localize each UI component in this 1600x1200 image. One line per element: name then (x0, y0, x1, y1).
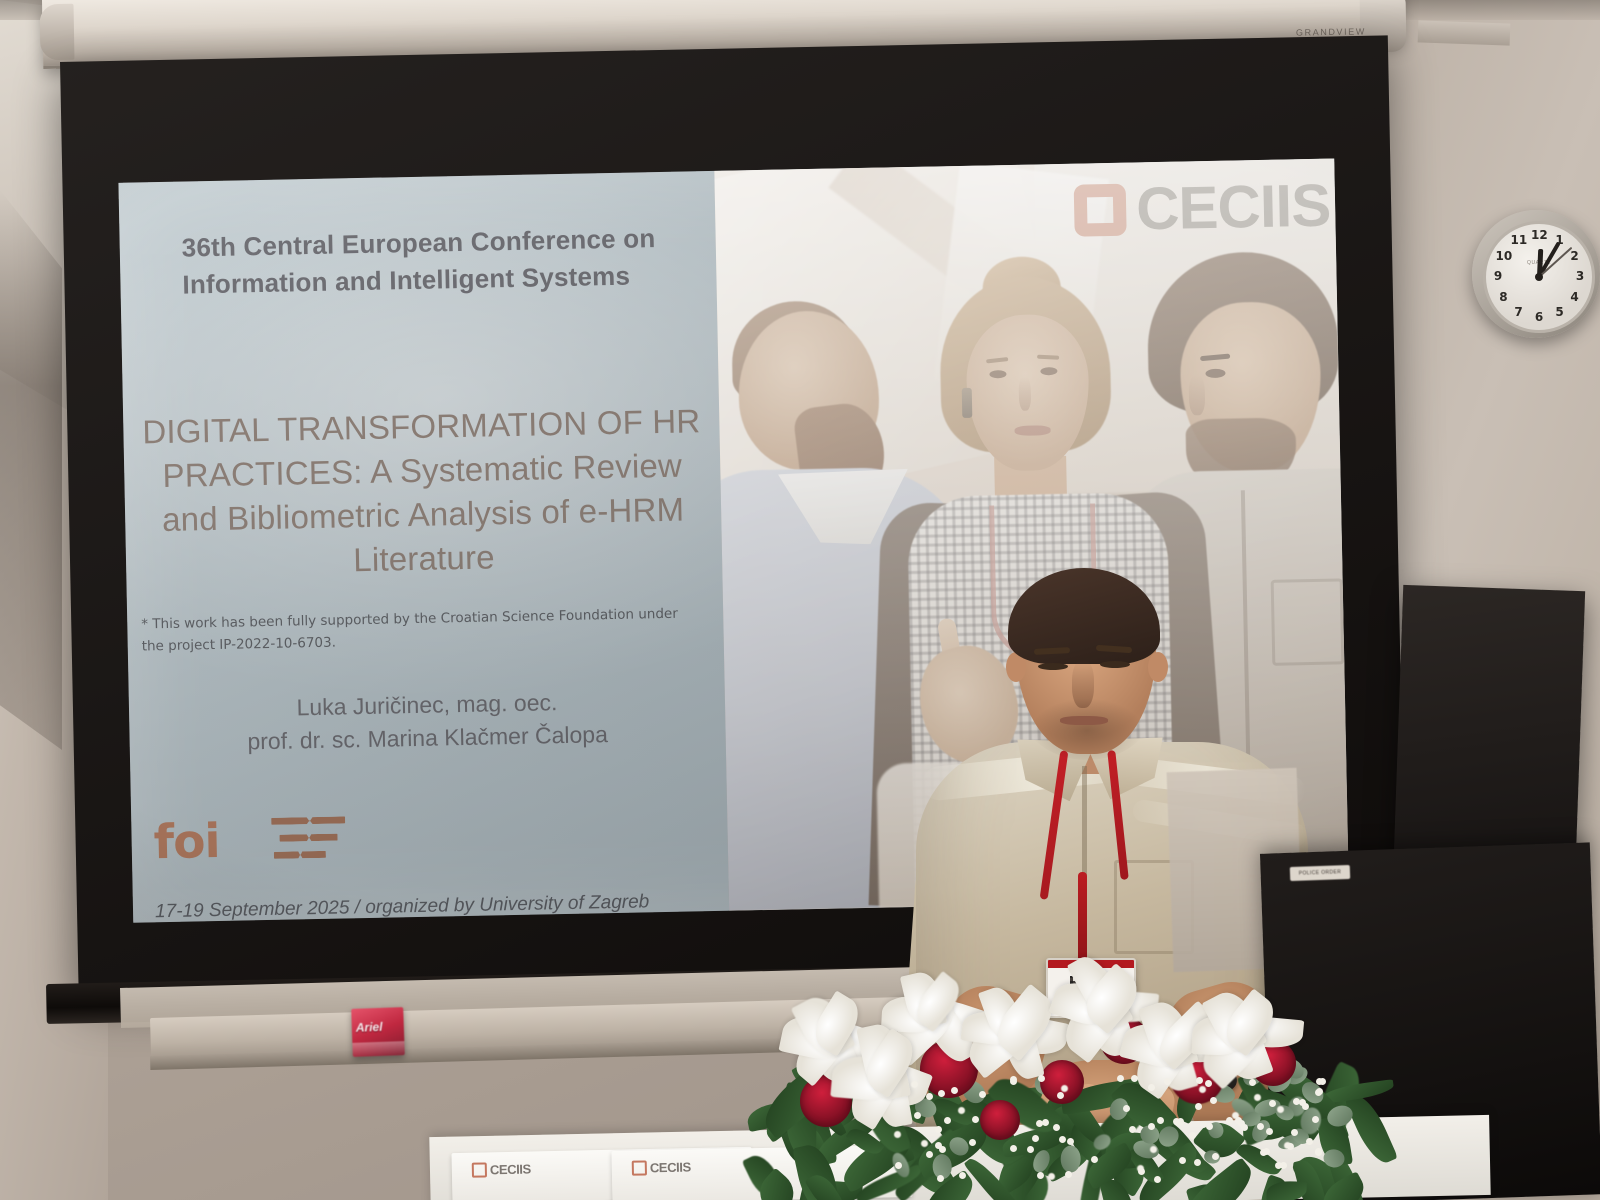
conference-header: 36th Central European Conference on Info… (181, 220, 682, 304)
slide-text-column: 36th Central European Conference on Info… (118, 171, 729, 923)
screen-housing-end-cap-left (40, 4, 75, 61)
monitor-label: POLICE ORDER (1290, 865, 1350, 881)
ceciis-square-icon (472, 1162, 487, 1177)
ceciis-wordmark: CECIIS (1135, 171, 1330, 244)
detergent-box: Ariel (351, 1007, 405, 1057)
screen-wall-bracket (1418, 20, 1511, 45)
name-card-logo-text: CECIIS (650, 1159, 691, 1175)
slide-footer: 17-19 September 2025 / organized by Univ… (155, 887, 716, 923)
slide-footer-line1: 17-19 September 2025 / organized by Univ… (155, 887, 715, 923)
ceciis-square-icon (632, 1160, 647, 1175)
wall-shadow (0, 190, 62, 750)
detergent-box-label: Ariel (356, 1020, 383, 1035)
clock-face: QUARTZ 121 23 45 67 89 1011 (1483, 221, 1595, 333)
name-card-ceciis-logo: CECIIS (472, 1161, 531, 1177)
name-card-logo-text: CECIIS (490, 1161, 531, 1177)
slide-authors: Luka Juričinec, mag. oec. prof. dr. sc. … (137, 683, 718, 761)
wall-clock: QUARTZ 121 23 45 67 89 1011 (1472, 210, 1600, 338)
slide-funding-footnote: * This work has been fully supported by … (141, 604, 682, 659)
slide-title: DIGITAL TRANSFORMATION OF HR PRACTICES: … (131, 399, 714, 586)
university-chevron-mark-icon (271, 814, 346, 863)
name-card-ceciis-logo: CECIIS (632, 1159, 691, 1175)
ceciis-logo: CECIIS (1073, 171, 1330, 245)
ceciis-square-icon (1074, 183, 1127, 236)
foi-logo: foi (153, 817, 220, 865)
slide-logo-row: foi (153, 814, 346, 866)
conference-room-photo: GRANDVIEW 36th Central European Conferen… (0, 0, 1600, 1200)
flower-arrangement (740, 980, 1360, 1200)
